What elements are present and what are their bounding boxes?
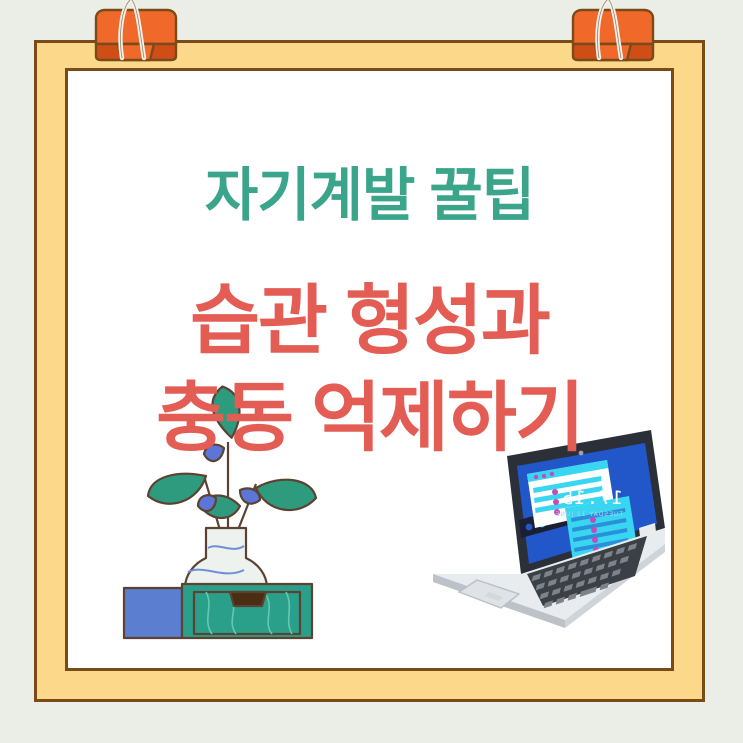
svg-text:TUESDAY 12 JUNE: TUESDAY 12 JUNE bbox=[555, 511, 624, 518]
binder-clip-right bbox=[565, 0, 661, 72]
poster-frame: 자기계발 꿀팁 습관 형성과 충동 억제하기 bbox=[34, 40, 705, 702]
headline-line-1: 습관 형성과 bbox=[68, 273, 671, 370]
laptop-illustration: 17:15 TUESDAY 12 JUNE bbox=[415, 424, 665, 644]
laptop-clock: 17:15 TUESDAY 12 JUNE bbox=[555, 487, 624, 518]
poster-frame-inner: 자기계발 꿀팁 습관 형성과 충동 억제하기 bbox=[65, 68, 674, 671]
binder-clip-left bbox=[88, 0, 184, 72]
poster-canvas: 자기계발 꿀팁 습관 형성과 충동 억제하기 bbox=[0, 0, 743, 743]
plant-illustration bbox=[120, 380, 340, 640]
svg-text:17:15: 17:15 bbox=[561, 487, 623, 509]
kicker-text: 자기계발 꿀팁 bbox=[68, 166, 671, 227]
